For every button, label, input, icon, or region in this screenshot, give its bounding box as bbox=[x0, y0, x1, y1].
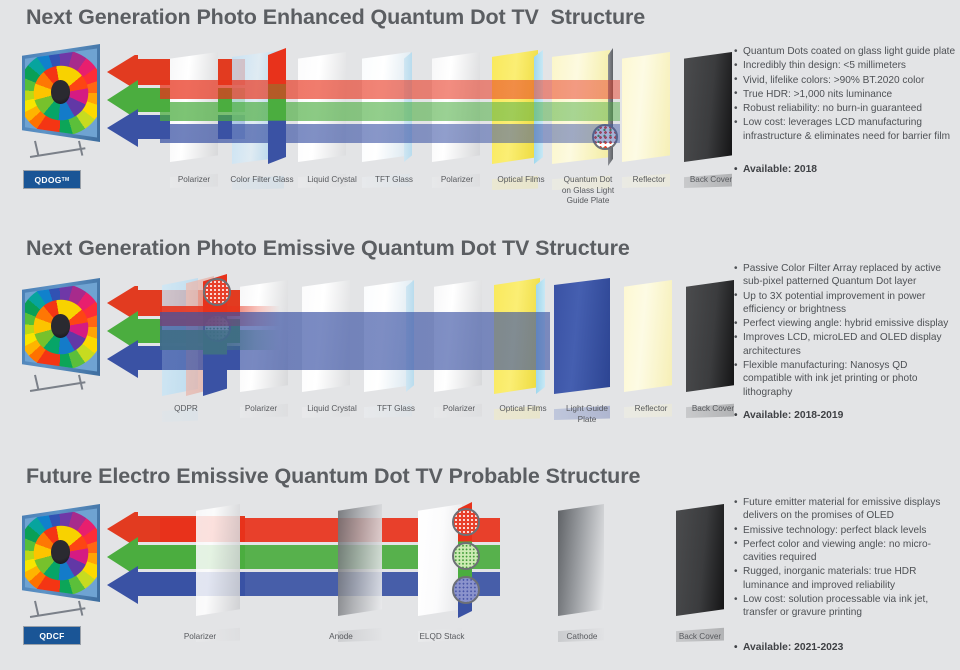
feature-item: Flexible manufacturing: Nanosys QD compa… bbox=[734, 359, 952, 399]
layer-label: QDPR bbox=[155, 404, 217, 415]
layer-panel bbox=[676, 504, 724, 616]
layer-panel bbox=[686, 280, 734, 392]
infographic-canvas: Next Generation Photo Enhanced Quantum D… bbox=[0, 0, 960, 670]
section-qdel: Future Electro Emissive Quantum Dot TV P… bbox=[0, 460, 960, 670]
section-title: Next Generation Photo Enhanced Quantum D… bbox=[26, 5, 645, 30]
layer-label: Liquid Crystal bbox=[294, 404, 370, 415]
rgb-band-overlay bbox=[160, 306, 550, 382]
feature-item: Low cost: solution processable via ink j… bbox=[734, 593, 948, 620]
quantum-dot-green-icon bbox=[452, 542, 480, 570]
quantum-dot-blue-icon bbox=[452, 576, 480, 604]
layer-label: Polarizer bbox=[228, 404, 294, 415]
layer-panel bbox=[196, 504, 240, 616]
badge-qdog: QDOGTM bbox=[23, 170, 81, 189]
layer-label: Optical Films bbox=[486, 175, 556, 186]
layer-panel bbox=[624, 280, 672, 392]
layer-label: Color Filter Glass bbox=[222, 175, 302, 186]
tv-spiral-core bbox=[51, 80, 70, 103]
layer-panel bbox=[622, 52, 670, 162]
tv-spiral-core bbox=[51, 314, 70, 337]
feature-item: Perfect color and viewing angle: no micr… bbox=[734, 538, 948, 565]
feature-item: Low cost: leverages LCD manufacturing in… bbox=[734, 116, 956, 143]
feature-list: Passive Color Filter Array replaced by a… bbox=[734, 262, 952, 400]
layer-label: Polarizer bbox=[426, 404, 492, 415]
layer-label: Liquid Crystal bbox=[294, 175, 370, 186]
feature-item: True HDR: >1,000 nits luminance bbox=[734, 88, 956, 101]
tv-stand bbox=[28, 141, 90, 159]
quantum-dot-red-icon bbox=[203, 278, 231, 306]
layer-label: Polarizer bbox=[424, 175, 490, 186]
layer-label: Reflector bbox=[618, 175, 680, 186]
tv-screen bbox=[25, 48, 97, 138]
feature-item: Incredibly thin design: <5 millimeters bbox=[734, 59, 956, 72]
section-qdcf: Next Generation Photo Emissive Quantum D… bbox=[0, 228, 960, 460]
tv-stand bbox=[28, 375, 90, 393]
badge-trademark: TM bbox=[62, 177, 70, 183]
feature-item: Robust reliability: no burn-in guarantee… bbox=[734, 102, 956, 115]
layer-label: Back Cover bbox=[680, 175, 742, 186]
feature-list: Future emitter material for emissive dis… bbox=[734, 496, 948, 621]
tv-illustration bbox=[14, 502, 109, 622]
layer-panel bbox=[338, 504, 382, 616]
quantum-dot-red-icon bbox=[452, 508, 480, 536]
badge-label: QDOG bbox=[34, 175, 61, 185]
availability-note: Available: 2018 bbox=[734, 164, 817, 175]
feature-item: Future emitter material for emissive dis… bbox=[734, 496, 948, 523]
section-title: Future Electro Emissive Quantum Dot TV P… bbox=[26, 464, 640, 489]
layer-panel bbox=[558, 504, 604, 616]
availability-note: Available: 2021-2023 bbox=[734, 642, 843, 653]
feature-item: Up to 3X potential improvement in power … bbox=[734, 290, 952, 317]
layer-panel bbox=[554, 278, 610, 394]
layer-label: Anode bbox=[286, 632, 396, 643]
layer-label: TFT Glass bbox=[364, 404, 428, 415]
feature-item: Perfect viewing angle: hybrid emissive d… bbox=[734, 317, 952, 330]
layer-panel bbox=[684, 52, 732, 162]
layer-label: Polarizer bbox=[160, 175, 228, 186]
feature-list: Quantum Dots coated on glass light guide… bbox=[734, 45, 956, 144]
layer-label: Polarizer bbox=[140, 632, 260, 643]
feature-item: Passive Color Filter Array replaced by a… bbox=[734, 262, 952, 289]
feature-item: Vivid, lifelike colors: >90% BT.2020 col… bbox=[734, 74, 956, 87]
tv-spiral-core bbox=[51, 540, 70, 563]
tv-stand bbox=[28, 601, 90, 619]
feature-item: Rugged, inorganic materials: true HDR lu… bbox=[734, 565, 948, 592]
feature-item: Emissive technology: perfect black level… bbox=[734, 524, 948, 537]
tv-screen bbox=[25, 282, 97, 372]
layer-label: TFT Glass bbox=[362, 175, 426, 186]
section-qdog: Next Generation Photo Enhanced Quantum D… bbox=[0, 0, 960, 228]
layer-label: Quantum Dot on Glass Light Guide Plate bbox=[552, 175, 624, 207]
tv-illustration bbox=[14, 42, 109, 162]
tv-screen bbox=[25, 508, 97, 598]
rgb-band-overlay bbox=[160, 78, 620, 148]
layer-label: Light Guide Plate bbox=[554, 404, 620, 425]
layer-label: ELQD Stack bbox=[392, 632, 492, 643]
feature-item: Quantum Dots coated on glass light guide… bbox=[734, 45, 956, 58]
layer-label: Cathode bbox=[532, 632, 632, 643]
layer-label: Optical Films bbox=[488, 404, 558, 415]
tv-illustration bbox=[14, 276, 109, 396]
layer-label: Reflector bbox=[620, 404, 682, 415]
section-title: Next Generation Photo Emissive Quantum D… bbox=[26, 236, 630, 261]
availability-note: Available: 2018-2019 bbox=[734, 410, 843, 421]
feature-item: Improves LCD, microLED and OLED display … bbox=[734, 331, 952, 358]
